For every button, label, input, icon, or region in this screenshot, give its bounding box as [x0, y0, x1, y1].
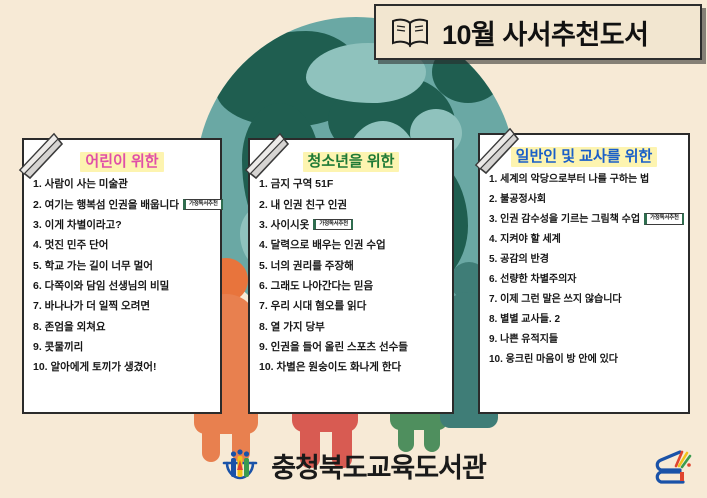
book-title: 1. 금지 구역 51F — [259, 179, 333, 191]
recommendation-badge: 가정독서추천 — [644, 213, 684, 225]
list-item[interactable]: 7. 우리 시대 혐오를 읽다 — [259, 301, 443, 313]
recommendation-badge: 가정독서추천 — [183, 199, 223, 211]
page-title: 10월 사서추천도서 — [442, 13, 648, 52]
list-item[interactable]: 6. 선량한 차별주의자 — [489, 274, 679, 285]
list-item[interactable]: 6. 그래도 나아간다는 믿음 — [259, 281, 443, 293]
list-item[interactable]: 4. 멋진 민주 단어 — [33, 240, 211, 252]
book-title: 3. 사이시옷 — [259, 220, 309, 232]
book-list: 1. 사람이 사는 미술관 2. 여기는 행복섬 인권을 배웁니다가정독서추천 … — [33, 179, 211, 374]
footer: 충청북도교육도서관 — [0, 438, 707, 492]
book-title: 9. 콧물끼리 — [33, 342, 83, 354]
book-title: 1. 사람이 사는 미술관 — [33, 179, 128, 191]
book-title: 2. 여기는 행복섬 인권을 배웁니다 — [33, 200, 179, 212]
list-item[interactable]: 3. 인권 감수성을 기르는 그림책 수업가정독서추천 — [489, 214, 679, 226]
book-title: 9. 인권을 들어 올린 스포츠 선수들 — [259, 342, 408, 354]
book-title: 7. 이제 그런 말은 쓰지 않습니다 — [489, 294, 622, 305]
list-item[interactable]: 5. 너의 권리를 주장해 — [259, 261, 443, 273]
list-item[interactable]: 5. 학교 가는 길이 너무 멀어 — [33, 261, 211, 273]
book-title: 2. 내 인권 친구 인권 — [259, 200, 347, 212]
card-title-text: 일반인 및 교사를 위한 — [511, 147, 658, 167]
list-item[interactable]: 7. 바나나가 더 일찍 오려면 — [33, 301, 211, 313]
book-title: 4. 달력으로 배우는 인권 수업 — [259, 240, 386, 252]
book-title: 6. 선량한 차별주의자 — [489, 274, 577, 285]
book-title: 10. 알아에게 토끼가 생겼어! — [33, 362, 156, 374]
list-item[interactable]: 1. 사람이 사는 미술관 — [33, 179, 211, 191]
list-item[interactable]: 8. 별별 교사들. 2 — [489, 314, 679, 325]
book-title: 1. 세계의 악당으로부터 나를 구하는 법 — [489, 174, 649, 185]
list-item[interactable]: 10. 알아에게 토끼가 생겼어! — [33, 362, 211, 374]
list-item[interactable]: 10. 차별은 원숭이도 화나게 한다 — [259, 362, 443, 374]
header-banner: 10월 사서추천도서 — [374, 4, 702, 60]
list-item[interactable]: 2. 여기는 행복섬 인권을 배웁니다가정독서추천 — [33, 200, 211, 212]
list-item[interactable]: 6. 다쪽이와 담임 선생님의 비밀 — [33, 281, 211, 293]
book-list-card-teens: 청소년을 위한 1. 금지 구역 51F 2. 내 인권 친구 인권 3. 사이… — [248, 138, 454, 414]
open-book-icon — [390, 16, 430, 48]
book-title: 9. 나쁜 유적지들 — [489, 334, 558, 345]
book-title: 3. 이게 차별이라고? — [33, 220, 122, 232]
landmass-shape — [216, 31, 366, 127]
book-title: 10. 웅크린 마음이 방 안에 있다 — [489, 354, 618, 365]
book-list-card-adults-teachers: 일반인 및 교사를 위한 1. 세계의 악당으로부터 나를 구하는 법 2. 불… — [478, 133, 690, 414]
book-title: 2. 불공정사회 — [489, 194, 546, 205]
list-item[interactable]: 8. 존엄을 외쳐요 — [33, 322, 211, 334]
card-title-text: 청소년을 위한 — [303, 152, 400, 172]
list-item[interactable]: 9. 나쁜 유적지들 — [489, 334, 679, 345]
list-item[interactable]: 4. 지켜야 할 세계 — [489, 234, 679, 245]
list-item[interactable]: 10. 웅크린 마음이 방 안에 있다 — [489, 354, 679, 365]
list-item[interactable]: 3. 이게 차별이라고? — [33, 220, 211, 232]
card-title-text: 어린이 위한 — [80, 152, 163, 172]
book-title: 3. 인권 감수성을 기르는 그림책 수업 — [489, 214, 640, 225]
list-item[interactable]: 4. 달력으로 배우는 인권 수업 — [259, 240, 443, 252]
list-item[interactable]: 9. 인권을 들어 올린 스포츠 선수들 — [259, 342, 443, 354]
recommendation-badge: 가정독서추천 — [313, 219, 353, 231]
list-item[interactable]: 2. 불공정사회 — [489, 194, 679, 205]
list-item[interactable]: 1. 금지 구역 51F — [259, 179, 443, 191]
list-item[interactable]: 9. 콧물끼리 — [33, 342, 211, 354]
card-title-adults-teachers: 일반인 및 교사를 위한 — [489, 147, 679, 167]
book-title: 8. 존엄을 외쳐요 — [33, 322, 106, 334]
book-title: 6. 그래도 나아간다는 믿음 — [259, 281, 373, 293]
book-list: 1. 세계의 악당으로부터 나를 구하는 법 2. 불공정사회 3. 인권 감수… — [489, 174, 679, 365]
book-title: 7. 바나나가 더 일찍 오려면 — [33, 301, 150, 313]
book-title: 8. 열 가지 당부 — [259, 322, 325, 334]
book-title: 7. 우리 시대 혐오를 읽다 — [259, 301, 366, 313]
book-title: 5. 학교 가는 길이 너무 멀어 — [33, 261, 153, 273]
book-title: 5. 공감의 반경 — [489, 254, 549, 265]
book-title: 10. 차별은 원숭이도 화나게 한다 — [259, 362, 401, 374]
book-title: 4. 지켜야 할 세계 — [489, 234, 561, 245]
list-item[interactable]: 2. 내 인권 친구 인권 — [259, 200, 443, 212]
cbe-people-emblem-icon — [221, 446, 259, 484]
poster-canvas: 10월 사서추천도서 어린이 위한 1. 사람이 사는 미술관 2. 여기는 행… — [0, 0, 707, 498]
list-item[interactable]: 3. 사이시옷가정독서추천 — [259, 220, 443, 232]
book-list: 1. 금지 구역 51F 2. 내 인권 친구 인권 3. 사이시옷가정독서추천… — [259, 179, 443, 374]
card-title-teens: 청소년을 위한 — [259, 152, 443, 172]
book-title: 8. 별별 교사들. 2 — [489, 314, 560, 325]
list-item[interactable]: 8. 열 가지 당부 — [259, 322, 443, 334]
card-title-children: 어린이 위한 — [33, 152, 211, 172]
list-item[interactable]: 7. 이제 그런 말은 쓰지 않습니다 — [489, 294, 679, 305]
library-book-mark-icon — [649, 446, 695, 488]
book-title: 5. 너의 권리를 주장해 — [259, 261, 354, 273]
list-item[interactable]: 1. 세계의 악당으로부터 나를 구하는 법 — [489, 174, 679, 185]
book-list-card-children: 어린이 위한 1. 사람이 사는 미술관 2. 여기는 행복섬 인권을 배웁니다… — [22, 138, 222, 414]
organization-name: 충청북도교육도서관 — [271, 446, 486, 485]
book-title: 4. 멋진 민주 단어 — [33, 240, 108, 252]
book-title: 6. 다쪽이와 담임 선생님의 비밀 — [33, 281, 169, 293]
list-item[interactable]: 5. 공감의 반경 — [489, 254, 679, 265]
